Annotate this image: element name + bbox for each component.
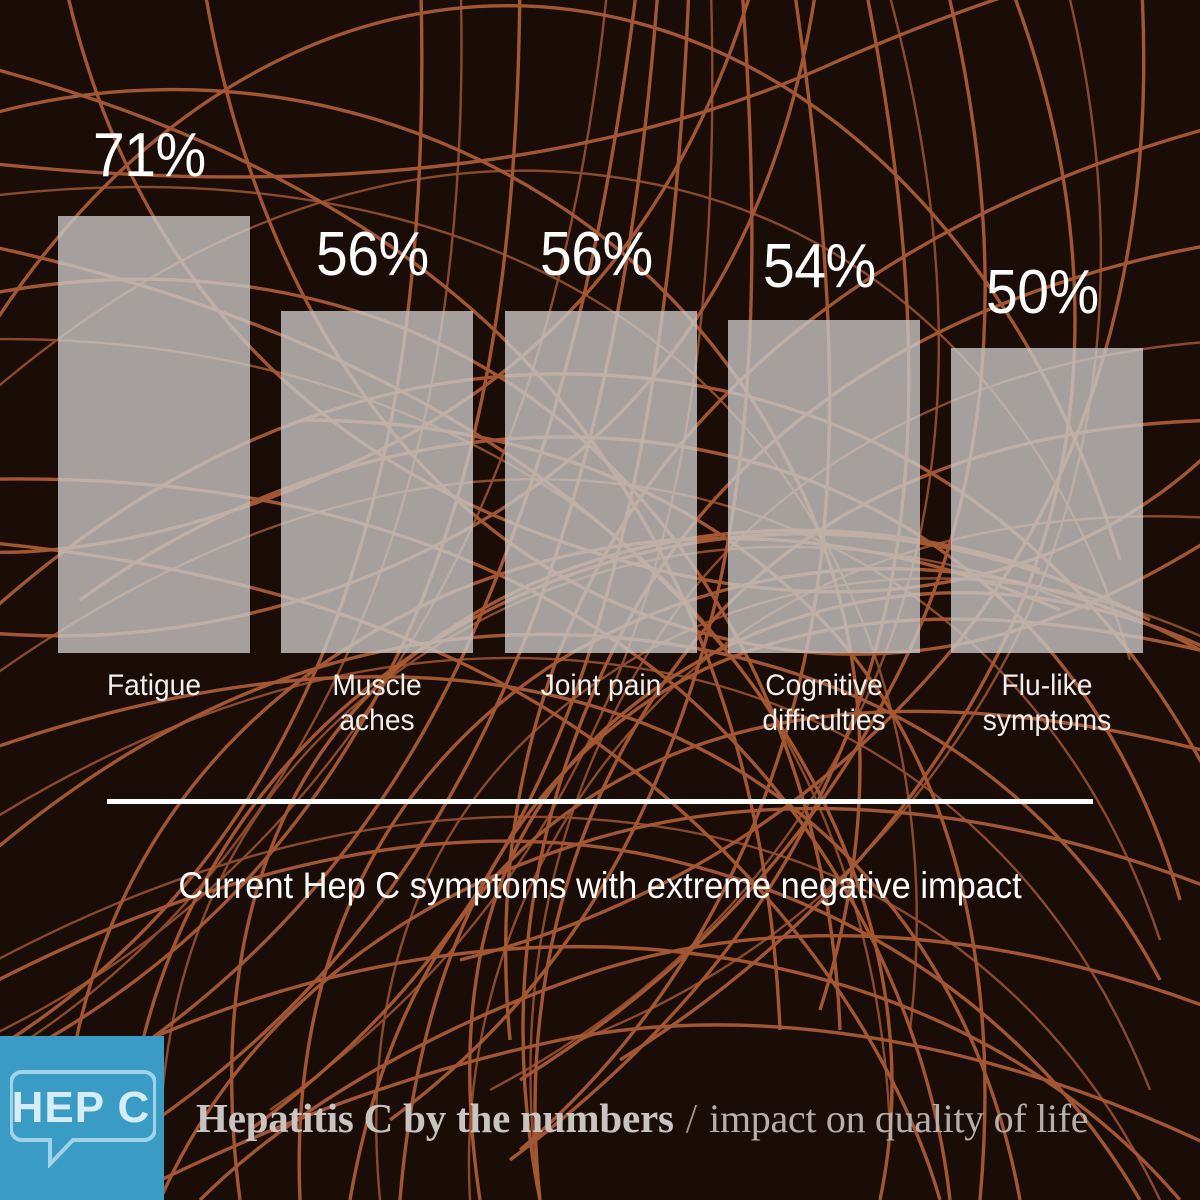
bar-label-fatigue: Fatigue (45, 668, 263, 703)
bar-label-flu-like-symptoms: Flu-like symptoms (938, 668, 1156, 739)
bar-value-muscle-aches: 56% (316, 224, 429, 286)
horizontal-divider (107, 799, 1093, 804)
footer-separator: / (674, 1094, 709, 1142)
footer-title: Hepatitis C by the numbers (196, 1094, 674, 1142)
footer-subtitle: impact on quality of life (709, 1095, 1088, 1142)
bar-value-joint-pain: 56% (540, 224, 653, 286)
bar-label-cognitive-difficulties: Cognitive difficulties (715, 668, 933, 739)
bar-value-fatigue: 71% (93, 125, 206, 187)
bar-cognitive-difficulties (728, 320, 920, 653)
bar-value-flu-like-symptoms: 50% (986, 262, 1099, 324)
speech-bubble-icon: HEP C (10, 1068, 156, 1168)
logo-text: HEP C (12, 1083, 151, 1132)
bar-value-cognitive-difficulties: 54% (763, 236, 876, 298)
chart-caption: Current Hep C symptoms with extreme nega… (42, 865, 1158, 907)
bar-joint-pain (505, 311, 697, 653)
bar-fatigue (58, 216, 250, 653)
bar-label-joint-pain: Joint pain (492, 668, 710, 703)
footer-bar: HEP C Hepatitis C by the numbers / impac… (0, 1036, 1200, 1200)
bar-muscle-aches (281, 311, 473, 653)
bar-chart: 71% Fatigue 56% Muscle aches 56% Joint p… (0, 0, 1200, 1030)
infographic-root: 71% Fatigue 56% Muscle aches 56% Joint p… (0, 0, 1200, 1200)
footer-title-group: Hepatitis C by the numbers / impact on q… (196, 1036, 1088, 1200)
bar-flu-like-symptoms (951, 348, 1143, 653)
bar-label-muscle-aches: Muscle aches (268, 668, 486, 739)
hep-c-logo[interactable]: HEP C (0, 1036, 164, 1200)
